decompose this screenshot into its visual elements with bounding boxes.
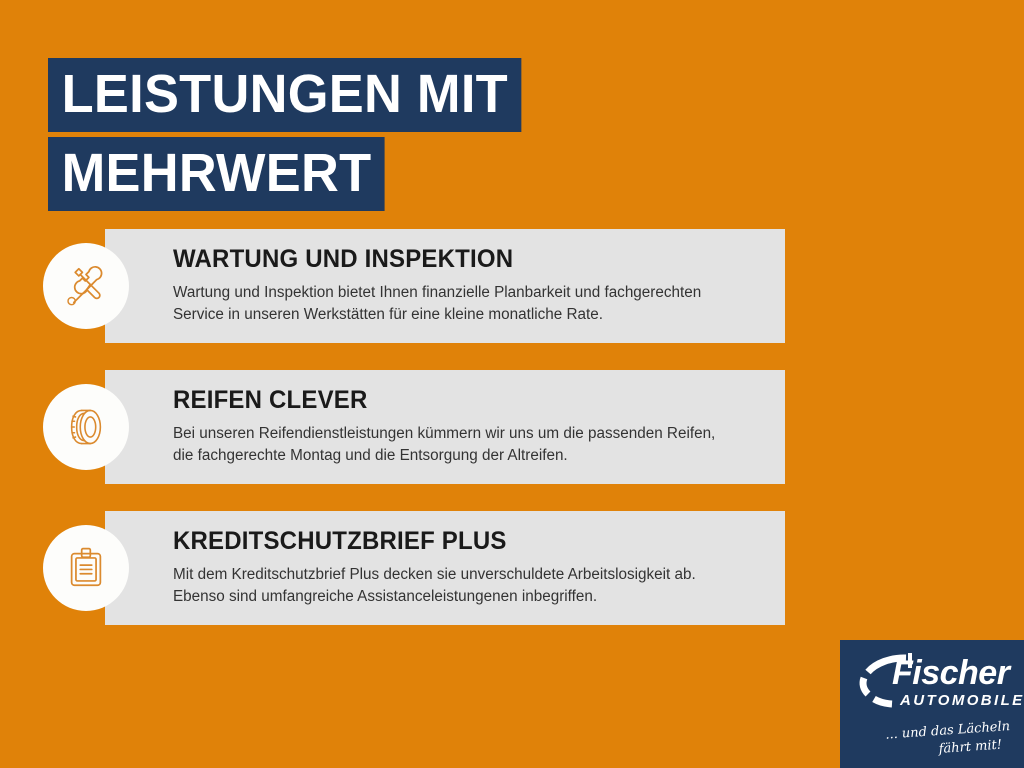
tire-icon [43,384,129,470]
logo-tagline: ... und das Lächeln fährt mit! [840,718,1024,753]
service-card-reifen-clever[interactable]: REIFEN CLEVER Bei unseren Reifendienstle… [105,370,785,484]
logo-subtitle: AUTOMOBILE [900,693,1024,708]
page-title: LEISTUNGEN MIT MEHRWERT [48,58,748,216]
service-card-kreditschutzbrief-plus[interactable]: KREDITSCHUTZBRIEF PLUS Mit dem Kreditsch… [105,511,785,625]
card-body: Bei unseren Reifendienstleistungen kümme… [173,423,752,468]
card-body: Wartung und Inspektion bietet Ihnen fina… [173,282,752,327]
service-card-wartung-und-inspektion[interactable]: WARTUNG UND INSPEKTION Wartung und Inspe… [105,229,785,343]
card-body-line-1: Bei unseren Reifendienstleistungen kümme… [173,423,752,445]
logo-wordmark: Fischer [892,656,1009,690]
card-body-line-2: Service in unseren Werkstätten für eine … [173,304,752,326]
card-body-line-2: Ebenso sind umfangreiche Assistanceleist… [173,586,752,608]
card-body-line-2: die fachgerechte Montag und die Entsorgu… [173,445,752,467]
headline-line-1: LEISTUNGEN MIT [48,58,522,132]
card-body-line-1: Mit dem Kreditschutzbrief Plus decken si… [173,564,752,586]
wrench-screwdriver-icon [43,243,129,329]
headline-line-2: MEHRWERT [48,137,385,211]
card-title: WARTUNG UND INSPEKTION [173,245,737,274]
card-title: REIFEN CLEVER [173,386,737,415]
card-body-line-1: Wartung und Inspektion bietet Ihnen fina… [173,282,752,304]
card-title: KREDITSCHUTZBRIEF PLUS [173,527,737,556]
clipboard-icon [43,525,129,611]
card-body: Mit dem Kreditschutzbrief Plus decken si… [173,564,752,609]
service-card-list: WARTUNG UND INSPEKTION Wartung und Inspe… [0,229,1024,652]
brand-logo: Fischer AUTOMOBILE ... und das Lächeln f… [840,640,1024,768]
